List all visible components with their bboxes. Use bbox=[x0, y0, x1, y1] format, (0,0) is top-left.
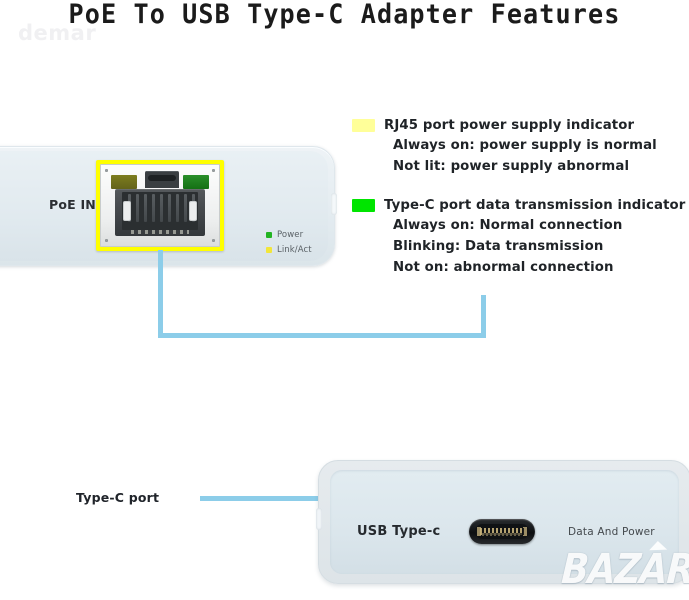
legend-detail-line: Always on: Normal connection bbox=[393, 215, 682, 236]
connector-rj45-vertical bbox=[158, 250, 163, 338]
legend-group-typec: Type-C port data transmission indicator … bbox=[352, 196, 682, 278]
poe-in-label: PoE IN bbox=[49, 197, 96, 212]
usb-typec-label: USB Type-c bbox=[357, 524, 440, 539]
rj45-port-highlight bbox=[96, 160, 224, 251]
legend-detail-line: Not lit: power supply abnormal bbox=[393, 156, 682, 177]
legend-detail-line: Not on: abnormal connection bbox=[393, 257, 682, 278]
usb-typec-port bbox=[469, 519, 535, 544]
rj45-side-clip-left bbox=[123, 201, 131, 221]
rj45-side-clip-right bbox=[189, 201, 197, 221]
diagram-canvas: PoE To USB Type-C Adapter Features demar… bbox=[0, 0, 689, 600]
feature-legend: RJ45 port power supply indicator Always … bbox=[352, 116, 682, 294]
screw-icon bbox=[212, 239, 215, 242]
rj45-jack-cavity bbox=[122, 192, 198, 230]
device-led-legend-row: Power bbox=[266, 229, 312, 241]
connector-rj45-horizontal bbox=[158, 333, 486, 338]
legend-detail-line: Blinking: Data transmission bbox=[393, 236, 682, 257]
legend-group-rj45: RJ45 port power supply indicator Always … bbox=[352, 116, 682, 177]
typec-port-callout-label: Type-C port bbox=[76, 490, 159, 505]
usb-typec-pins-bottom bbox=[482, 533, 522, 536]
screw-icon bbox=[212, 169, 215, 172]
typec-data-indicator-swatch bbox=[352, 199, 375, 212]
page-title: PoE To USB Type-C Adapter Features bbox=[24, 0, 665, 32]
rj45-jack-shell bbox=[115, 189, 205, 236]
rj45-led-window-left bbox=[111, 175, 137, 189]
rj45-latch-slot bbox=[148, 175, 176, 181]
legend-detail-line: Always on: power supply is normal bbox=[393, 135, 682, 156]
device-led-legend: Power Link/Act bbox=[266, 229, 312, 259]
legend-heading-text: Type-C port data transmission indicator bbox=[384, 196, 685, 215]
usb-typec-cavity bbox=[475, 524, 529, 539]
demar-watermark: demar bbox=[18, 21, 96, 45]
screw-icon bbox=[105, 239, 108, 242]
rj45-latch-tab bbox=[145, 171, 179, 188]
legend-heading-text: RJ45 port power supply indicator bbox=[384, 116, 634, 135]
legend-heading-row: RJ45 port power supply indicator bbox=[352, 116, 682, 135]
bottom-device-side-notch bbox=[316, 508, 322, 530]
rj45-power-indicator-swatch bbox=[352, 119, 375, 132]
top-device-side-notch bbox=[331, 193, 337, 215]
screw-icon bbox=[105, 169, 108, 172]
device-led-legend-row: Link/Act bbox=[266, 244, 312, 256]
bazar-watermark-accent bbox=[649, 541, 667, 551]
power-led-label: Power bbox=[277, 230, 303, 240]
connector-rj45-riser bbox=[481, 295, 486, 338]
legend-heading-row: Type-C port data transmission indicator bbox=[352, 196, 682, 215]
link-act-led-swatch bbox=[266, 247, 272, 253]
data-and-power-label: Data And Power bbox=[568, 526, 655, 538]
link-act-led-label: Link/Act bbox=[277, 245, 312, 255]
power-led-swatch bbox=[266, 232, 272, 238]
rj45-port bbox=[100, 164, 220, 247]
rj45-bottom-pins bbox=[131, 230, 189, 234]
rj45-led-window-right bbox=[183, 175, 209, 189]
